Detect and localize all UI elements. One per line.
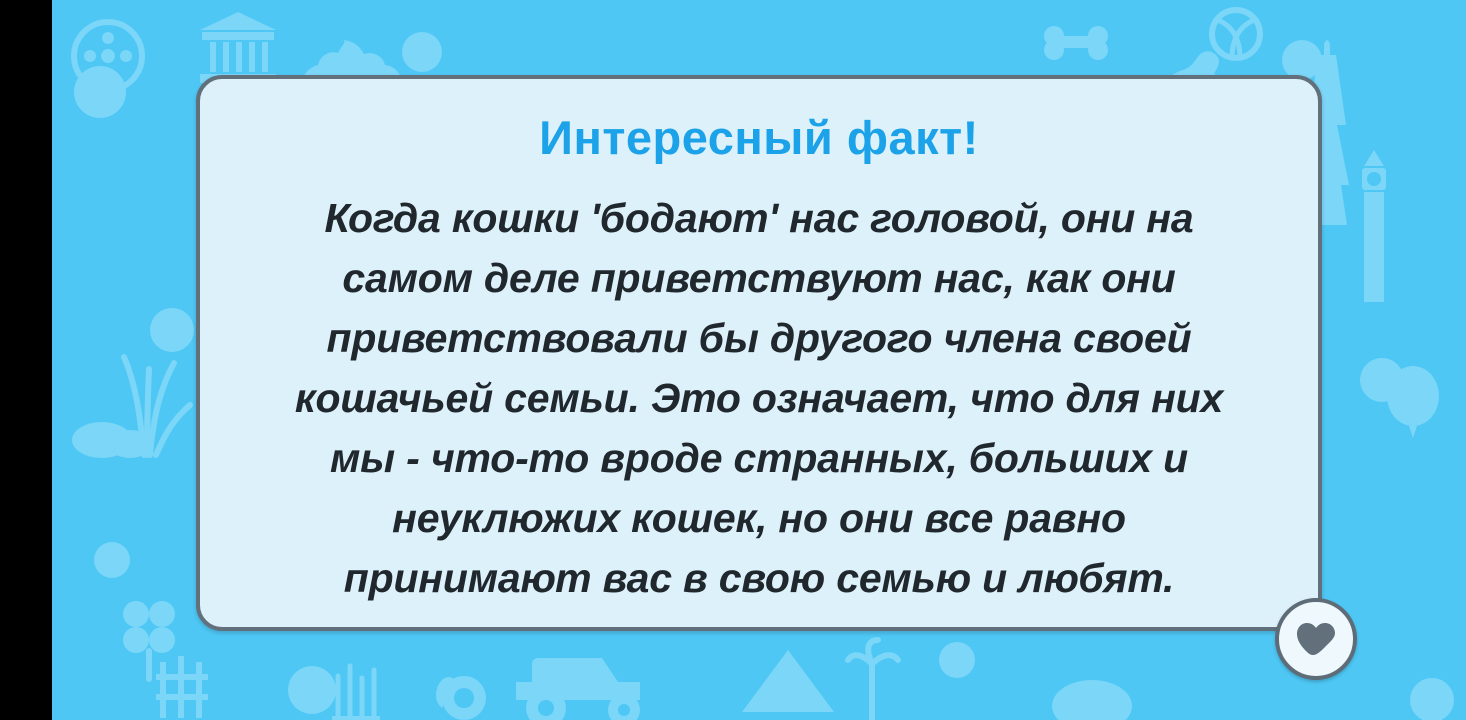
letterbox-bar-left xyxy=(0,0,52,720)
fact-line: самом деле приветствуют нас, как они xyxy=(235,248,1283,308)
fact-card: Интересный факт! Когда кошки 'бодают' на… xyxy=(196,75,1322,631)
fact-line: мы - что-то вроде странных, больших и xyxy=(235,428,1283,488)
fact-line: принимают вас в свою семью и любят. xyxy=(235,548,1283,608)
fact-line: приветствовали бы другого члена своей xyxy=(235,308,1283,368)
favorite-button[interactable] xyxy=(1275,598,1357,680)
heart-icon xyxy=(1296,621,1336,657)
fact-line: кошачьей семьи. Это означает, что для ни… xyxy=(235,368,1283,428)
fact-text: Когда кошки 'бодают' нас головой, они на… xyxy=(235,188,1283,608)
page-title: Интересный факт! xyxy=(539,114,979,161)
app-screen: Интересный факт! Когда кошки 'бодают' на… xyxy=(0,0,1466,720)
fact-line: Когда кошки 'бодают' нас головой, они на xyxy=(235,188,1283,248)
fact-line: неуклюжих кошек, но они все равно xyxy=(235,488,1283,548)
